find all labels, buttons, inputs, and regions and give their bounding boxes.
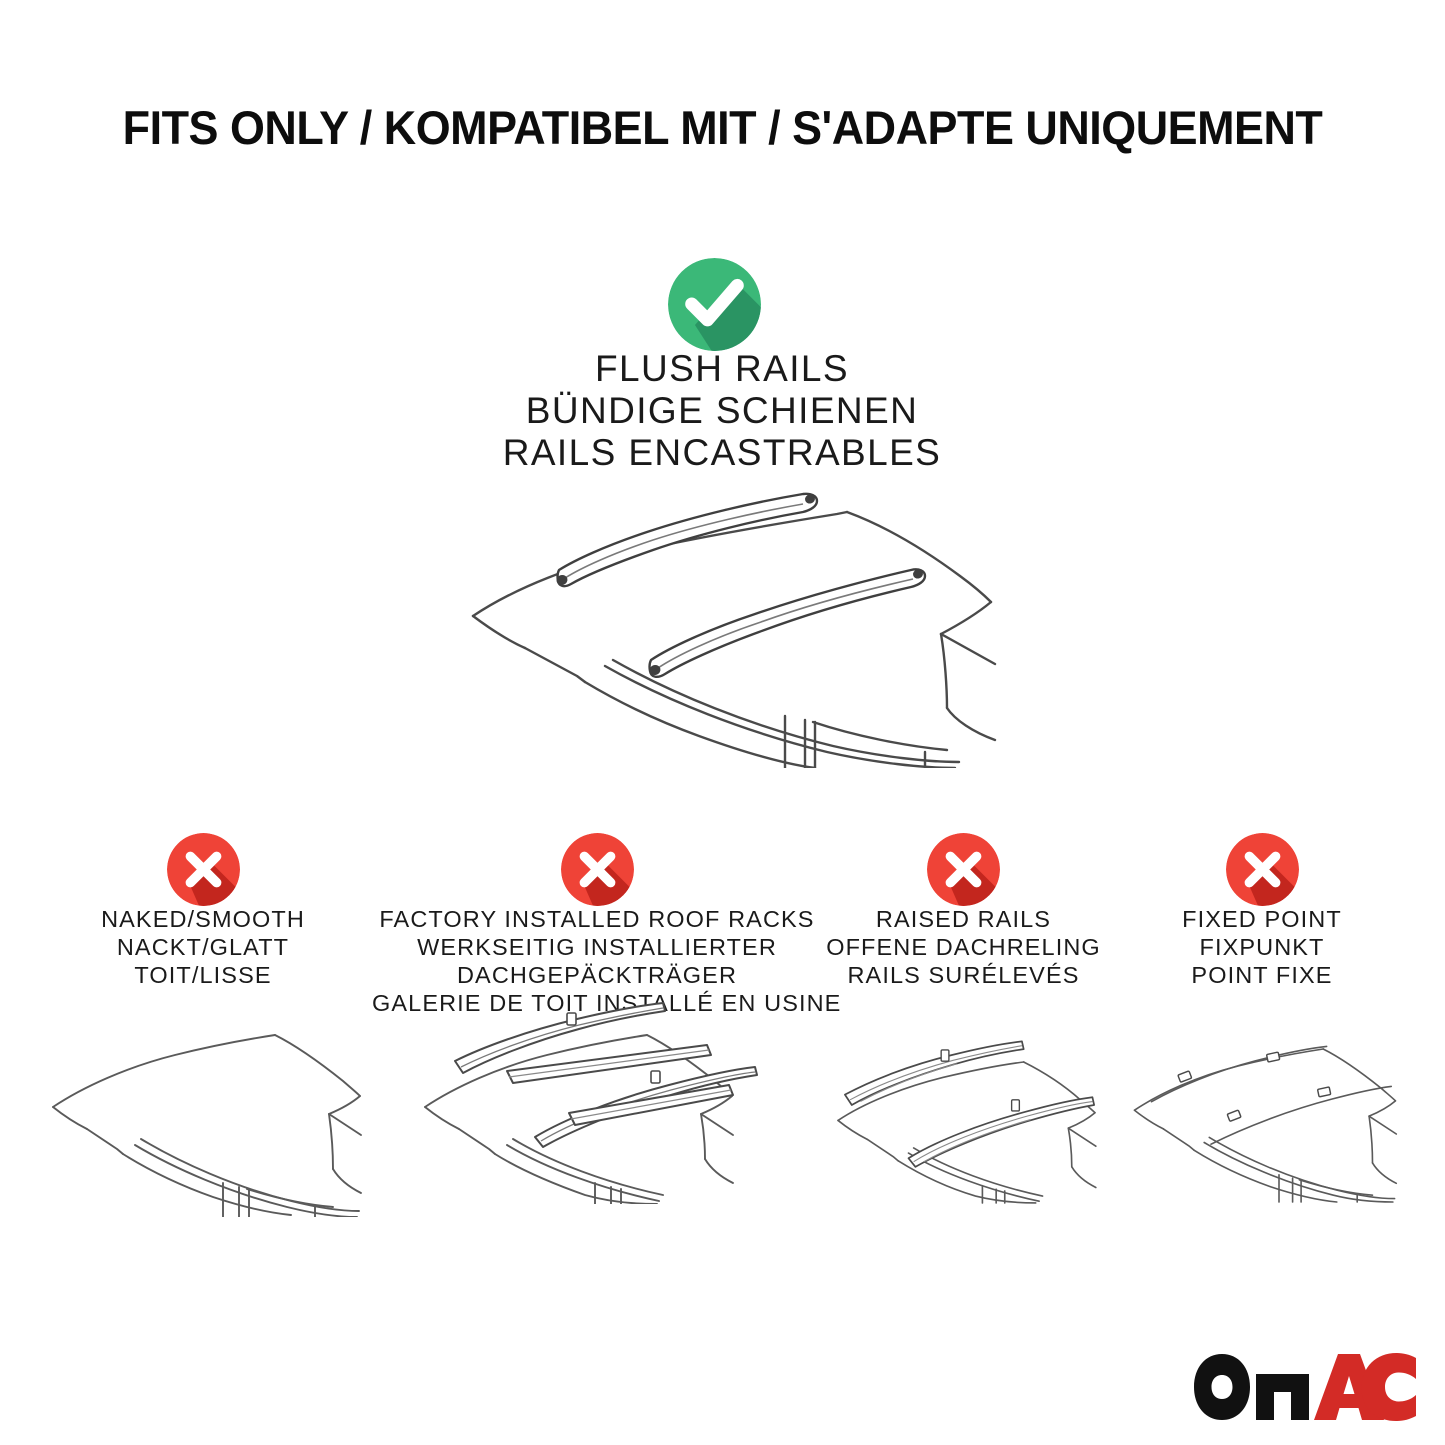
label-line-en: NAKED/SMOOTH [43,905,363,933]
incompatible-column-raised-rails: RAISED RAILS OFFENE DACHRELING RAILS SUR… [826,905,1101,989]
incompatible-label: RAISED RAILS OFFENE DACHRELING RAILS SUR… [826,905,1101,989]
x-circle-icon [1226,833,1299,906]
car-roof-with-raised-rails-illustration [826,1017,1101,1217]
compatible-line-en: FLUSH RAILS [222,348,1222,390]
car-roof-with-factory-crossbars-illustration [372,989,822,1204]
label-line-de-1: WERKSEITIG INSTALLIERTER [372,933,822,961]
check-circle-icon [668,258,761,351]
incompatible-label: NAKED/SMOOTH NACKT/GLATT TOIT/LISSE [43,905,363,989]
logo-letter-m [1256,1374,1309,1420]
car-roof-bare-illustration [43,1017,363,1217]
incompatible-column-naked-smooth: NAKED/SMOOTH NACKT/GLATT TOIT/LISSE [43,905,363,989]
car-roof-with-flush-rails-illustration [455,468,1015,768]
label-line-fr: RAILS SURÉLEVÉS [826,961,1101,989]
x-circle-icon [561,833,634,906]
car-roof-with-fixed-points-illustration [1126,1017,1398,1217]
label-line-en: RAISED RAILS [826,905,1101,933]
label-line-de: OFFENE DACHRELING [826,933,1101,961]
label-line-en: FIXED POINT [1126,905,1398,933]
compatible-line-de: BÜNDIGE SCHIENEN [222,390,1222,432]
label-line-de-2: DACHGEPÄCKTRÄGER [372,961,822,989]
incompatible-column-factory-roof-racks: FACTORY INSTALLED ROOF RACKS WERKSEITIG … [372,905,822,1017]
logo-letter-o [1194,1354,1250,1420]
infographic-page: FITS ONLY / KOMPATIBEL MIT / S'ADAPTE UN… [0,0,1445,1445]
label-line-fr: TOIT/LISSE [43,961,363,989]
label-line-de: FIXPUNKT [1126,933,1398,961]
x-circle-icon [927,833,1000,906]
label-line-en: FACTORY INSTALLED ROOF RACKS [372,905,822,933]
incompatible-column-fixed-point: FIXED POINT FIXPUNKT POINT FIXE [1126,905,1398,989]
x-circle-icon [167,833,240,906]
label-line-de: NACKT/GLATT [43,933,363,961]
compatible-label: FLUSH RAILS BÜNDIGE SCHIENEN RAILS ENCAS… [222,348,1222,474]
label-line-fr: POINT FIXE [1126,961,1398,989]
page-title: FITS ONLY / KOMPATIBEL MIT / S'ADAPTE UN… [33,100,1413,155]
incompatible-label: FIXED POINT FIXPUNKT POINT FIXE [1126,905,1398,989]
omac-logo [1192,1352,1418,1424]
